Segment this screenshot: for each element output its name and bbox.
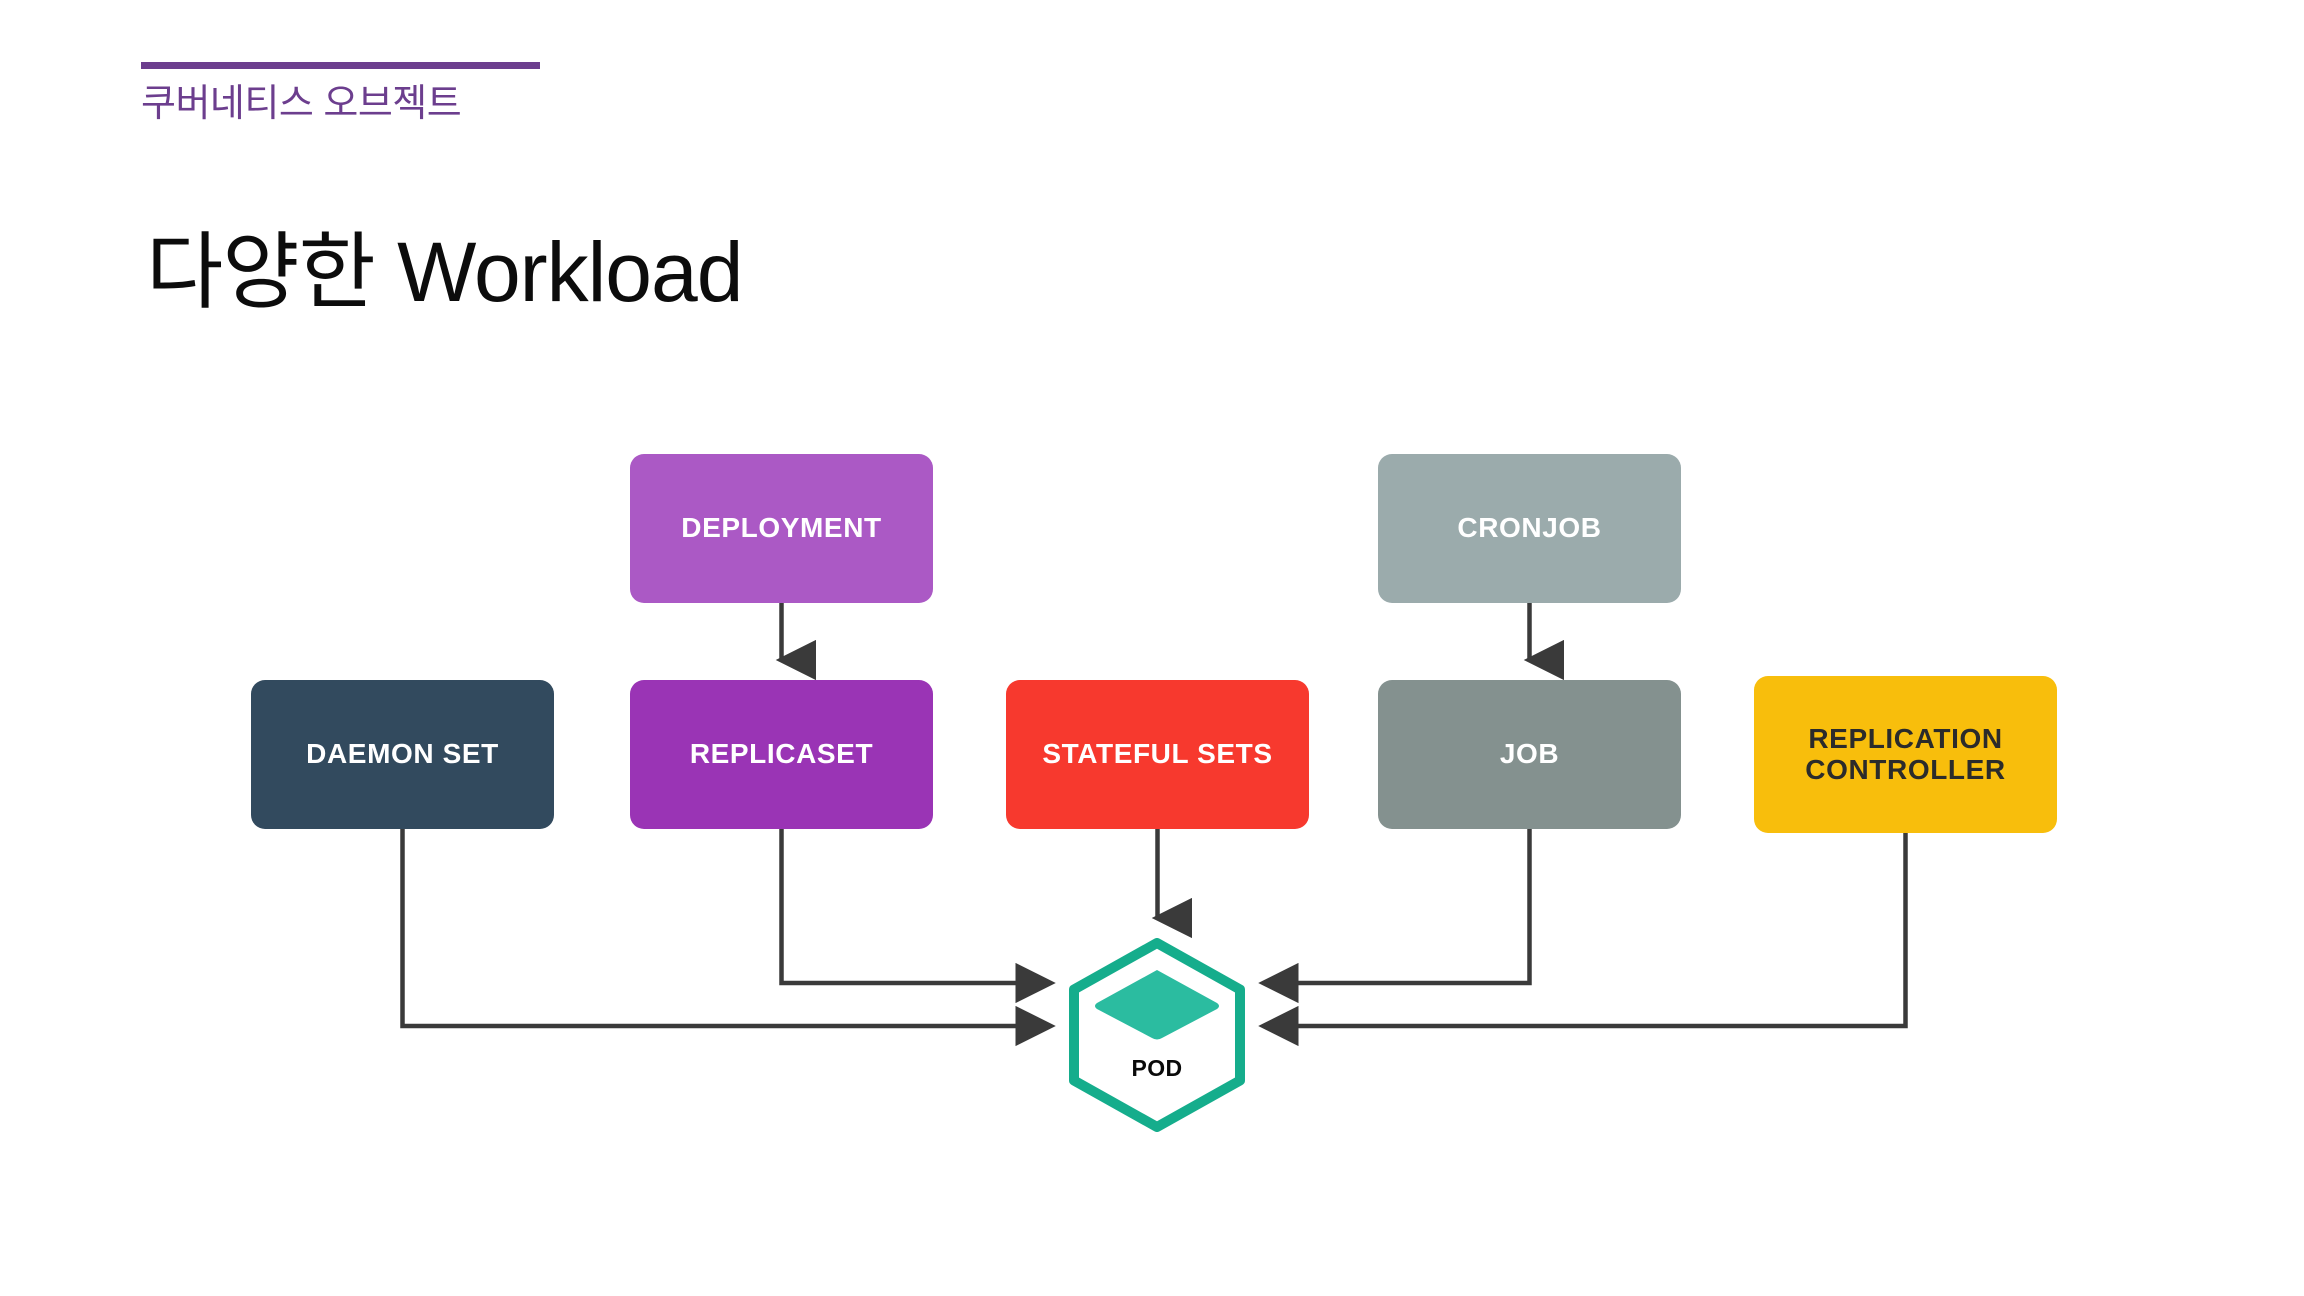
- node-replication-controller[interactable]: REPLICATION CONTROLLER: [1754, 676, 2057, 833]
- edge-job-to-pod: [1264, 829, 1530, 983]
- node-job-label: JOB: [1500, 739, 1559, 770]
- edge-replicationcontroller-to-pod: [1264, 833, 1906, 1026]
- node-stateful-sets-label: STATEFUL SETS: [1042, 739, 1272, 770]
- workload-diagram: DEPLOYMENT CRONJOB DAEMON SET REPLICASET…: [0, 0, 2304, 1296]
- node-replication-controller-label: REPLICATION CONTROLLER: [1805, 724, 2005, 786]
- node-pod-label: POD: [1067, 1055, 1247, 1082]
- node-job[interactable]: JOB: [1378, 680, 1681, 829]
- node-deployment-label: DEPLOYMENT: [681, 513, 881, 544]
- edge-daemonset-to-pod: [403, 829, 1051, 1026]
- node-deployment[interactable]: DEPLOYMENT: [630, 454, 933, 603]
- pod-hexagon-icon: [1067, 938, 1247, 1132]
- node-daemon-set-label: DAEMON SET: [306, 739, 499, 770]
- node-cronjob[interactable]: CRONJOB: [1378, 454, 1681, 603]
- edge-replicaset-to-pod: [782, 829, 1051, 983]
- node-stateful-sets[interactable]: STATEFUL SETS: [1006, 680, 1309, 829]
- node-cronjob-label: CRONJOB: [1457, 513, 1601, 544]
- node-pod[interactable]: POD: [1067, 938, 1247, 1132]
- node-replicaset[interactable]: REPLICASET: [630, 680, 933, 829]
- node-replicaset-label: REPLICASET: [690, 739, 873, 770]
- node-daemon-set[interactable]: DAEMON SET: [251, 680, 554, 829]
